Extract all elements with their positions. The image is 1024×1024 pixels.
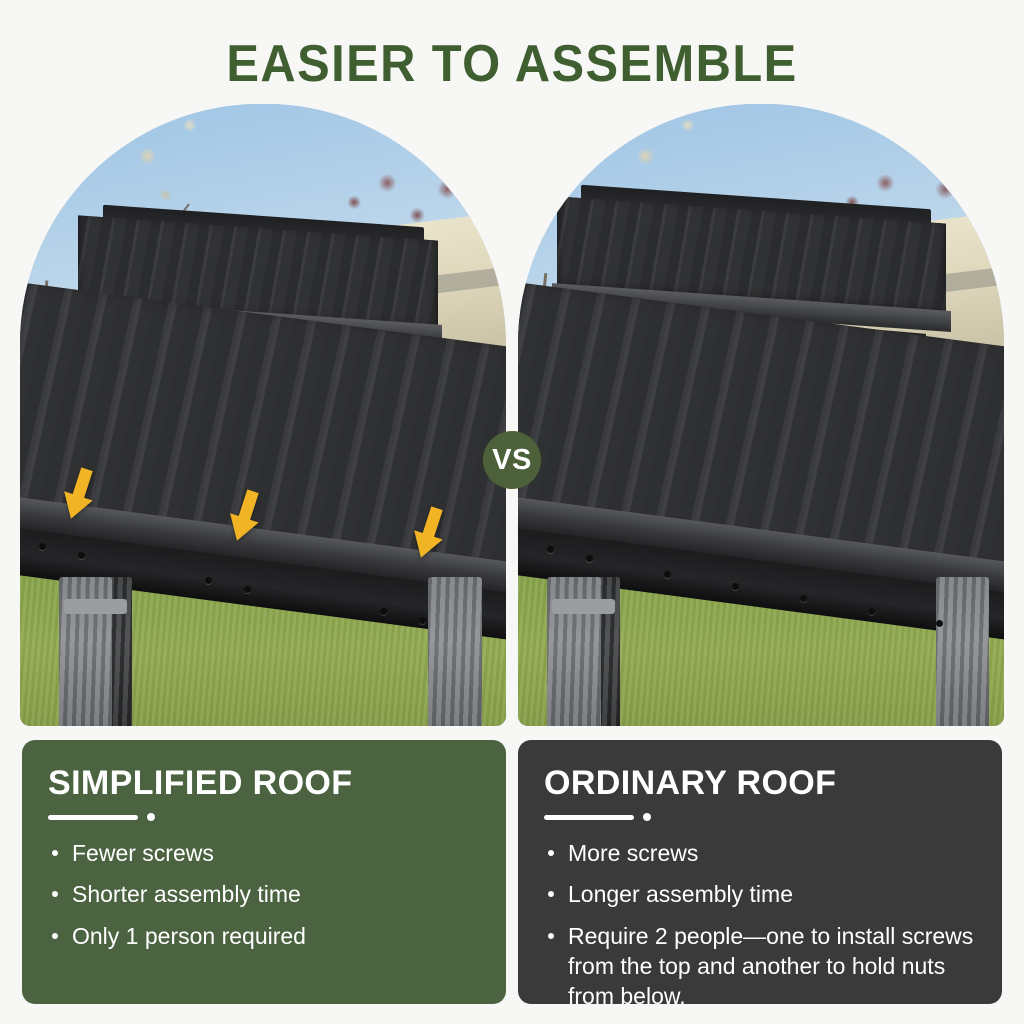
screw-hole: [205, 577, 212, 584]
gazebo-curtain-right: [936, 577, 989, 726]
gazebo-curtain-right: [428, 577, 481, 726]
panel-divider-right: [544, 813, 976, 821]
ordinary-roof-title: ORDINARY ROOF: [544, 766, 976, 800]
right-photo-scene: [518, 104, 1004, 726]
list-item: Longer assembly time: [544, 879, 976, 909]
simplified-roof-title: SIMPLIFIED ROOF: [48, 766, 480, 800]
screw-hole: [732, 583, 739, 590]
ordinary-roof-panel: ORDINARY ROOF More screws Longer assembl…: [518, 740, 1002, 1004]
divider-bar: [48, 815, 138, 820]
screw-indicator-arrow-3: [412, 505, 446, 561]
left-photo-scene: [20, 104, 506, 726]
simplified-roof-panel: SIMPLIFIED ROOF Fewer screws Shorter ass…: [22, 740, 506, 1004]
photo-divider: [506, 104, 518, 726]
screw-hole: [868, 608, 875, 615]
list-item: Shorter assembly time: [48, 879, 480, 909]
vs-badge: VS: [483, 431, 541, 489]
ordinary-roof-bullet-list: More screws Longer assembly time Require…: [544, 838, 976, 1012]
divider-dot: [147, 813, 155, 821]
screw-hole: [380, 608, 387, 615]
divider-dot: [643, 813, 651, 821]
left-product-photo: [20, 104, 506, 726]
curtain-tieback-left: [552, 599, 615, 614]
screw-hole: [244, 586, 251, 593]
screw-indicator-arrow-1: [62, 466, 96, 522]
list-item: Require 2 people—one to install screws f…: [544, 921, 976, 1012]
screw-hole: [664, 571, 671, 578]
page-title: EASIER TO ASSEMBLE: [31, 34, 994, 94]
screw-hole: [419, 617, 426, 624]
right-product-photo: [518, 104, 1004, 726]
list-item: More screws: [544, 838, 976, 868]
list-item: Fewer screws: [48, 838, 480, 868]
comparison-infographic: EASIER TO ASSEMBLE: [0, 0, 1024, 1024]
simplified-roof-bullet-list: Fewer screws Shorter assembly time Only …: [48, 838, 480, 951]
divider-bar: [544, 815, 634, 820]
screw-indicator-arrow-2: [228, 488, 262, 544]
curtain-tieback-left: [64, 599, 127, 614]
screw-hole: [39, 543, 46, 550]
screw-hole: [547, 546, 554, 553]
panel-divider-left: [48, 813, 480, 821]
screw-hole: [586, 555, 593, 562]
list-item: Only 1 person required: [48, 921, 480, 951]
